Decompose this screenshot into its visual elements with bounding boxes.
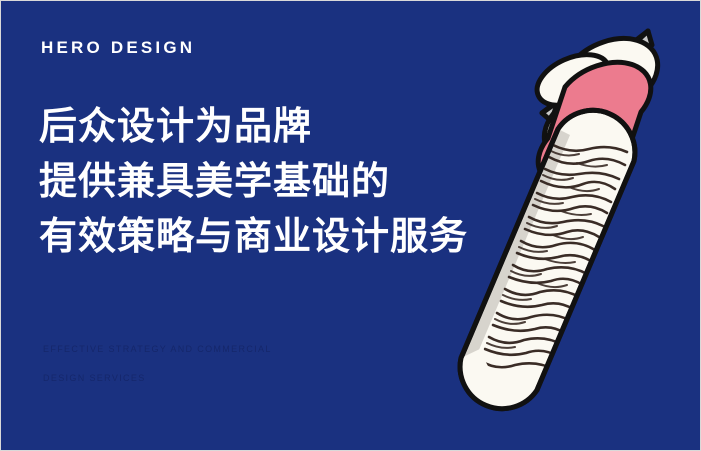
subtext-block: EFFECTIVE STRATEGY AND COMMERCIAL DESIGN… [43, 335, 373, 393]
subtext-line-2: DESIGN SERVICES [43, 364, 373, 393]
headline-line-2: 提供兼具美学基础的 [39, 154, 559, 209]
headline-line-1: 后众设计为品牌 [39, 99, 559, 154]
headline-block: 后众设计为品牌 提供兼具美学基础的 有效策略与商业设计服务 [39, 99, 559, 264]
brand-eyebrow: HERO DESIGN [41, 39, 195, 56]
subtext-line-1: EFFECTIVE STRATEGY AND COMMERCIAL [43, 335, 373, 364]
headline-line-3: 有效策略与商业设计服务 [39, 209, 559, 264]
poster-canvas: HERO DESIGN 后众设计为品牌 提供兼具美学基础的 有效策略与商业设计服… [0, 0, 701, 451]
